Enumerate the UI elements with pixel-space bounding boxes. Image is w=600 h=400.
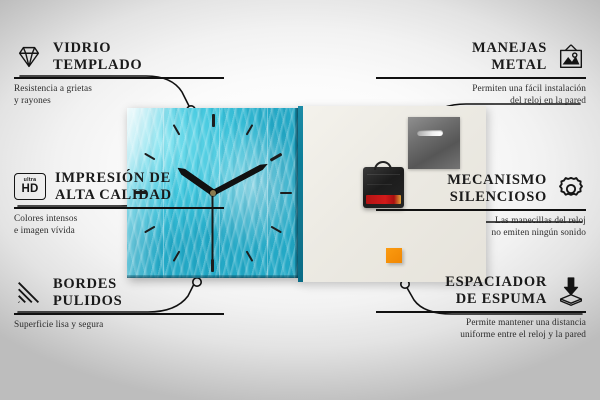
feature-sub-line2: y rayones	[14, 95, 224, 107]
feature-sub-line1: Permite mantener una distancia	[376, 317, 586, 329]
feature-title-line2: PULIDOS	[53, 293, 122, 310]
feature-sub-line2: uniforme entre el reloj y la pared	[376, 329, 586, 341]
foam-spacer	[386, 248, 402, 263]
feature-sub-line2: e imagen vívida	[14, 225, 224, 237]
metal-hanger-plate	[408, 117, 460, 169]
divider	[14, 77, 224, 79]
divider	[14, 313, 224, 315]
feature-sub-line1: Colores intensos	[14, 213, 224, 225]
divider	[376, 77, 586, 79]
feature-sub-line2: no emiten ningún sonido	[376, 227, 586, 239]
feature-title-line2: TEMPLADO	[53, 57, 142, 74]
hanging-frame-icon	[556, 42, 586, 72]
divider	[376, 311, 586, 313]
feature-espaciador-de-espuma: ESPACIADOR DE ESPUMA Permite mantener un…	[376, 274, 586, 341]
feature-title-line2: ALTA CALIDAD	[55, 187, 172, 204]
diamond-icon	[14, 42, 44, 72]
divider	[14, 207, 224, 209]
feature-vidrio-templado: VIDRIO TEMPLADO Resistencia a grietas y …	[14, 40, 224, 107]
feature-sub-line1: Superficie lisa y segura	[14, 319, 224, 331]
polished-edge-icon	[14, 278, 44, 308]
ultra-hd-icon: ultra HD	[14, 173, 46, 200]
infographic-canvas: VIDRIO TEMPLADO Resistencia a grietas y …	[0, 0, 600, 400]
feature-title-line1: MANEJAS	[472, 40, 547, 57]
feature-impresion-alta-calidad: ultra HD IMPRESIÓN DE ALTA CALIDAD Color…	[14, 170, 224, 237]
foam-spacer-icon	[556, 276, 586, 306]
feature-mecanismo-silencioso: MECANISMO SILENCIOSO Las manecillas del …	[376, 172, 586, 239]
feature-sub-line2: del reloj en la pared	[376, 95, 586, 107]
feature-title-line1: VIDRIO	[53, 40, 142, 57]
feature-title-line1: BORDES	[53, 276, 122, 293]
gear-icon	[556, 174, 586, 204]
feature-manejas-metal: MANEJAS METAL Permiten una fácil instala…	[376, 40, 586, 107]
ultra-hd-icon-main: HD	[21, 184, 38, 196]
feature-sub-line1: Permiten una fácil instalación	[376, 83, 586, 95]
panel-edge-strip	[298, 106, 303, 282]
feature-title-line2: METAL	[472, 57, 547, 74]
feature-title-line2: DE ESPUMA	[445, 291, 547, 308]
feature-title-line1: ESPACIADOR	[445, 274, 547, 291]
hanger-loop-icon	[374, 161, 392, 170]
divider	[376, 209, 586, 211]
feature-sub-line1: Resistencia a grietas	[14, 83, 224, 95]
feature-title-line1: MECANISMO	[447, 172, 547, 189]
feature-sub-line1: Las manecillas del reloj	[376, 215, 586, 227]
feature-title-line1: IMPRESIÓN DE	[55, 170, 172, 187]
feature-bordes-pulidos: BORDES PULIDOS Superficie lisa y segura	[14, 276, 224, 331]
feature-title-line2: SILENCIOSO	[447, 189, 547, 206]
